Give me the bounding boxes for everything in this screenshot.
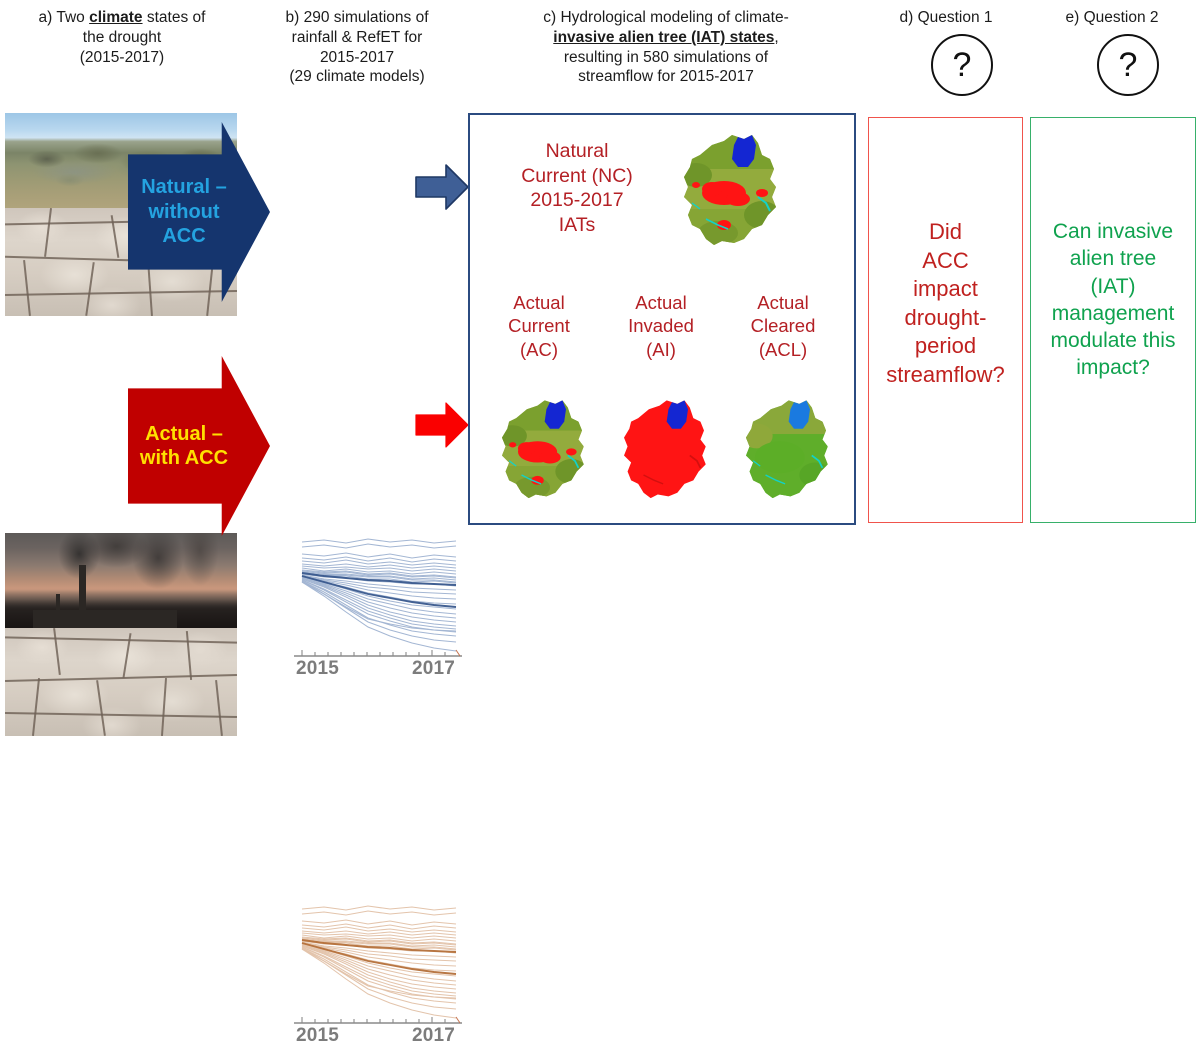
question-2-box: Can invasive alien tree (IAT) management…	[1030, 117, 1196, 523]
panel-c-box: Natural Current (NC) 2015-2017 IATs	[468, 113, 856, 525]
ai-label-line3: (AI)	[646, 339, 676, 360]
question-1-box: Did ACC impact drought- period streamflo…	[868, 117, 1023, 523]
actual-arrow-label: Actual – with ACC	[140, 422, 258, 471]
catchment-map-actual-current	[486, 395, 598, 507]
acl-label-line2: Cleared	[751, 315, 816, 336]
actual-with-acc-arrow: Actual – with ACC	[128, 356, 270, 536]
panel-d-title: Question 1	[918, 9, 993, 26]
panel-c-title-strong: invasive alien tree (IAT) states	[553, 29, 774, 46]
actual-plot-x-end-label: 2017	[412, 1025, 455, 1047]
industrial-smokestack-drought-photo	[5, 533, 237, 736]
panel-e-letter: e)	[1065, 9, 1079, 26]
panel-b-letter: b)	[285, 9, 299, 26]
q1-line3: impact	[913, 276, 978, 301]
panel-a-title-line2: the drought	[83, 29, 161, 46]
panel-d-heading: d) Question 1	[866, 8, 1026, 28]
question-1-text: Did ACC impact drought- period streamflo…	[869, 218, 1022, 390]
q2-line5: modulate this	[1051, 329, 1176, 352]
ac-label-line1: Actual	[513, 292, 564, 313]
ai-label-line1: Actual	[635, 292, 686, 313]
panel-c-title-line3: resulting in 580 simulations of	[564, 49, 768, 66]
ai-label-line2: Invaded	[628, 315, 694, 336]
natural-plot-x-start-label: 2015	[296, 658, 339, 680]
question-1-mark-circle: ?	[931, 34, 993, 96]
q2-line4: management	[1052, 302, 1175, 325]
nc-label-line3: 2015-2017	[530, 189, 623, 211]
natural-arrow-line1: Natural –	[141, 176, 227, 198]
question-2-mark-glyph: ?	[1119, 46, 1138, 85]
state-label-actual-cleared: Actual Cleared (ACL)	[724, 291, 842, 361]
panel-c-heading: c) Hydrological modeling of climate- inv…	[472, 8, 860, 87]
panel-a-heading: a) Two climate states of the drought (20…	[4, 8, 240, 67]
panel-b-title-line3: 2015-2017	[320, 49, 394, 66]
panel-c-title-comma: ,	[774, 29, 778, 46]
actual-plot-x-start-label: 2015	[296, 1025, 339, 1047]
nc-label-line4: IATs	[559, 214, 595, 236]
figure-canvas: a) Two climate states of the drought (20…	[0, 0, 1200, 534]
q1-line2: ACC	[922, 248, 968, 273]
actual-arrow-line1: Actual –	[145, 423, 223, 445]
question-2-text: Can invasive alien tree (IAT) management…	[1031, 218, 1195, 382]
q2-line3: (IAT)	[1090, 275, 1135, 298]
panel-a-letter: a)	[39, 9, 53, 26]
panel-c-letter: c)	[543, 9, 556, 26]
panel-a-title-pre: Two	[56, 9, 89, 26]
natural-arrow-label: Natural – without ACC	[141, 175, 257, 248]
state-label-actual-current: Actual Current (AC)	[480, 291, 598, 361]
catchment-map-natural-current	[666, 129, 792, 255]
panel-d-letter: d)	[899, 9, 913, 26]
natural-arrow-line3: ACC	[162, 225, 205, 247]
panel-b-heading: b) 290 simulations of rainfall & RefET f…	[244, 8, 470, 87]
state-label-actual-invaded: Actual Invaded (AI)	[602, 291, 720, 361]
actual-to-panel-c-arrow	[414, 400, 470, 450]
acl-label-line3: (ACL)	[759, 339, 807, 360]
natural-to-panel-c-arrow	[414, 162, 470, 212]
cracked-earth-region-bottom	[5, 628, 237, 736]
natural-arrow-line2: without	[148, 201, 219, 223]
acl-label-line1: Actual	[757, 292, 808, 313]
smokestack-plant-silhouette	[33, 610, 177, 628]
panel-a-title-post: states of	[143, 9, 206, 26]
state-label-natural-current: Natural Current (NC) 2015-2017 IATs	[492, 139, 662, 237]
question-1-mark-glyph: ?	[953, 46, 972, 85]
ac-label-line3: (AC)	[520, 339, 558, 360]
q1-line1: Did	[929, 219, 962, 244]
q1-line6: streamflow?	[886, 362, 1005, 387]
q2-line6: impact?	[1076, 356, 1150, 379]
natural-climate-spaghetti-plot: 2015 2017	[272, 524, 468, 664]
panel-e-heading: e) Question 2	[1032, 8, 1192, 28]
actual-arrow-line2: with ACC	[140, 447, 228, 469]
panel-e-title: Question 2	[1084, 9, 1159, 26]
ac-label-line2: Current	[508, 315, 570, 336]
panel-b-title-line4: (29 climate models)	[289, 68, 424, 85]
nc-label-line2: Current (NC)	[521, 165, 633, 187]
panel-b-title-line2: rainfall & RefET for	[292, 29, 423, 46]
panel-a-title-strong: climate	[89, 9, 142, 26]
natural-plot-x-end-label: 2017	[412, 658, 455, 680]
panel-c-title-line1: Hydrological modeling of climate-	[560, 9, 788, 26]
catchment-map-actual-invaded	[608, 395, 720, 507]
q2-line1: Can invasive	[1053, 220, 1173, 243]
panel-c-title-line4: streamflow for 2015-2017	[578, 68, 754, 85]
panel-b-title-line1: 290 simulations of	[304, 9, 429, 26]
q1-line4: drought-	[905, 305, 987, 330]
q2-line2: alien tree	[1070, 247, 1156, 270]
nc-label-line1: Natural	[546, 140, 609, 162]
natural-ensemble-lines	[272, 524, 468, 664]
smokestack-chimney-small	[56, 594, 60, 629]
panel-a-title-line3: (2015-2017)	[80, 49, 164, 66]
catchment-map-actual-cleared	[730, 395, 842, 507]
actual-ensemble-lines	[272, 891, 468, 1031]
question-2-mark-circle: ?	[1097, 34, 1159, 96]
actual-climate-spaghetti-plot: 2015 2017	[272, 891, 468, 1031]
q1-line5: period	[915, 333, 976, 358]
